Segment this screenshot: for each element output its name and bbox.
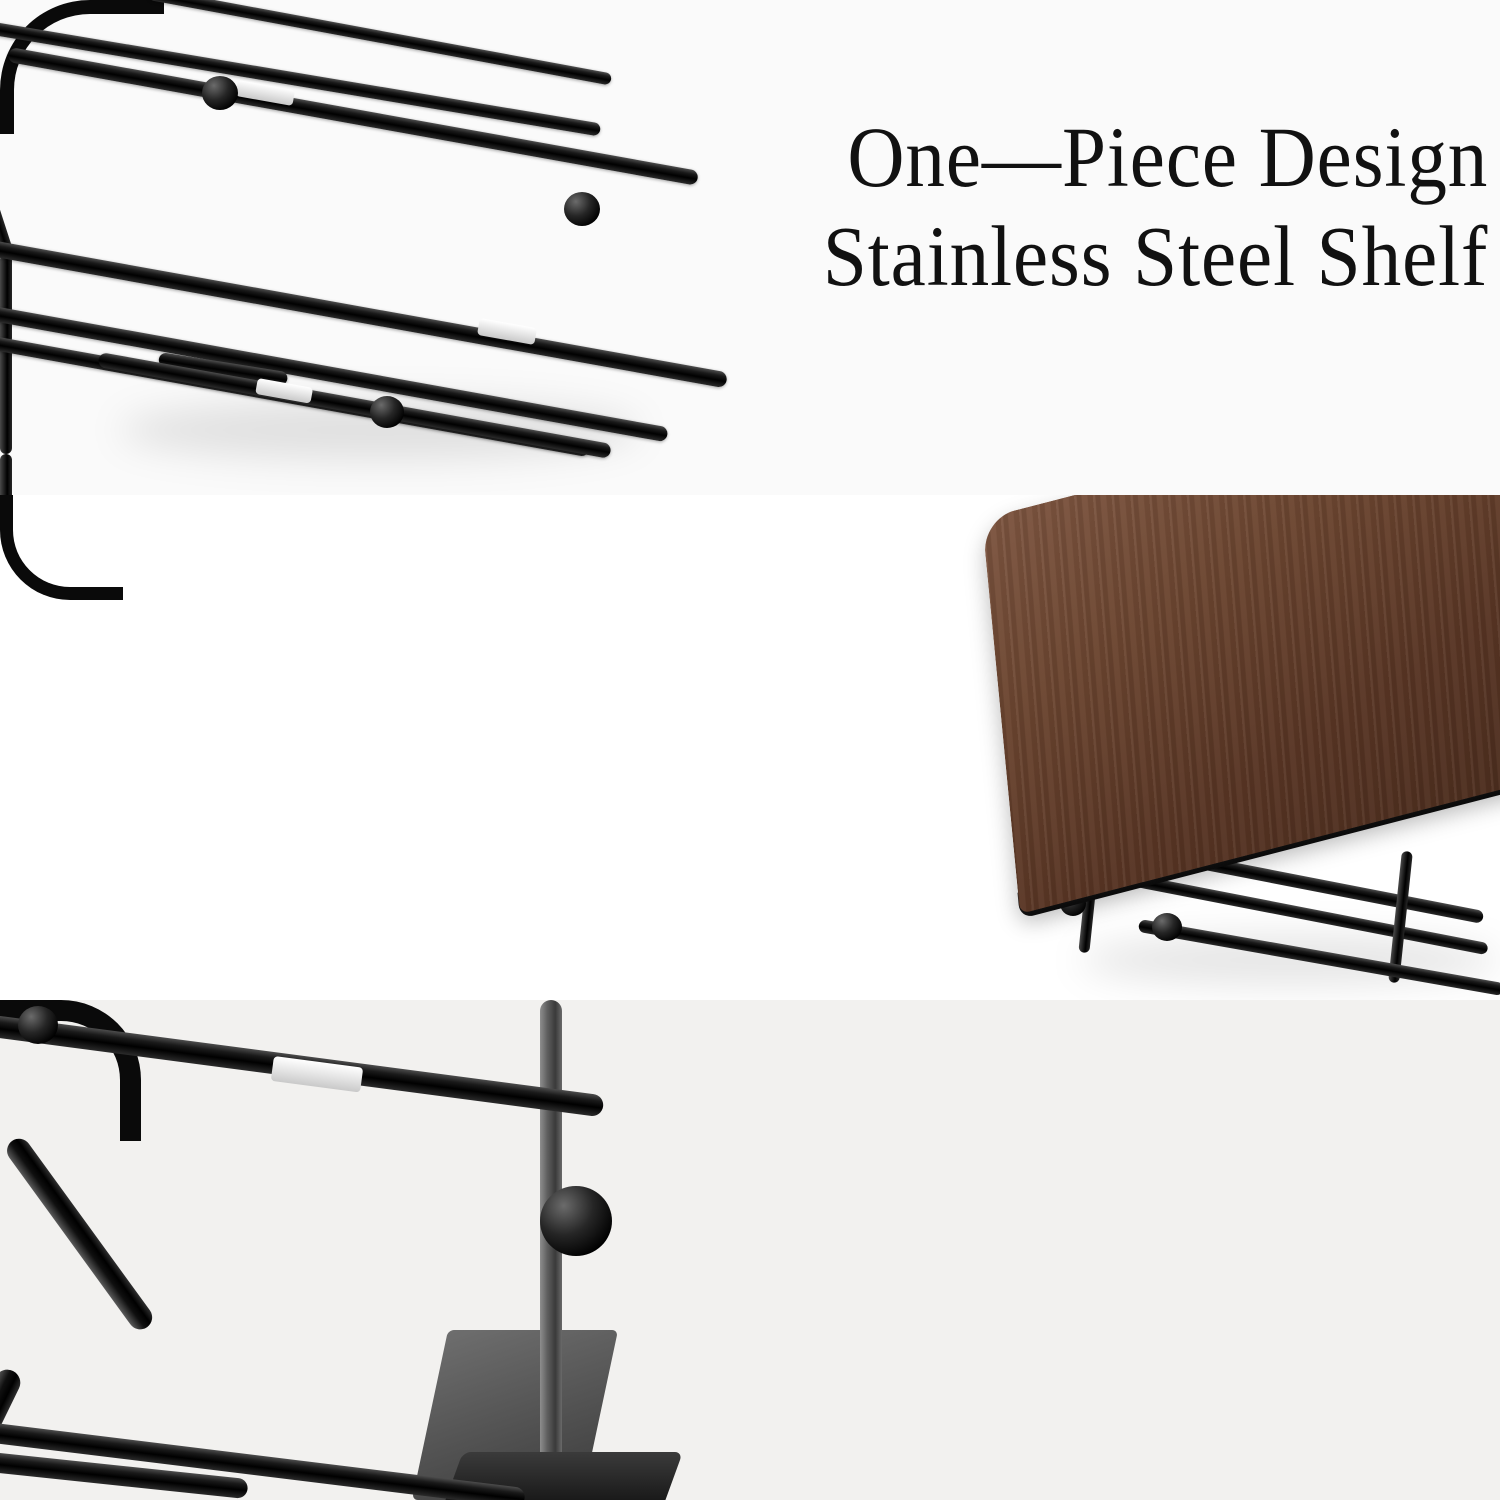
tube-highlight-band-bottom [255,378,313,404]
tray-ball-foot-b [1060,891,1086,916]
bottom-frame-corner-bend [0,1000,141,1141]
base-plate [441,1452,683,1500]
shelf-divider-post-c [0,454,12,495]
ball-foot-bottom [370,396,404,428]
tray-frame-bar-c [1138,919,1500,996]
shelf-shadow [120,400,640,460]
metal-reflective-panel [412,1330,618,1500]
panel-wooden-tray: Wooden Tray Classic Decor [0,495,1500,1000]
bottom-frame-top-rail [0,1012,605,1117]
tray-shadow [1080,935,1500,985]
tray-frame-curve [0,495,123,600]
shelf-hook-arm [0,138,14,256]
tray-frame-bar-a [1070,831,1485,924]
bottom-frame-foot-rail [0,1452,249,1499]
center-ball-joint [540,1186,612,1256]
tray-frame-bar-b [1094,867,1489,955]
panel-one-piece-design: One—Piece Design Stainless Steel Shelf [0,0,1500,495]
ball-foot-top [202,76,238,110]
tube-highlight-band-top [235,80,295,106]
ball-foot-mid [564,192,600,226]
headline-line-1: One—Piece Design [823,112,1488,203]
shelf-left-corner-bend [0,0,164,134]
ball-joint-photo [0,1000,1500,1500]
shelf-left-leg-foot [158,352,289,386]
shelf-divider-post-b [0,344,12,454]
diagonal-tube-upper-right [2,1134,157,1334]
headline-one-piece-design: One—Piece Design Stainless Steel Shelf [823,112,1488,310]
tray-wood-surface [982,495,1500,914]
panel-bottom-balls: Bottom Balls for Slip Resistance & Venti… [0,1000,1500,1500]
tray-leg-right [1388,851,1413,983]
tray-leg-left [1078,825,1102,953]
shelf-bottom-rail [97,352,611,459]
shelf-mid-rail [0,238,728,388]
shelf-lower-rail [0,300,669,442]
tube-highlight-band [271,1056,363,1093]
bottom-frame-lower-rail [0,1420,526,1500]
shelf-divider-post-a [0,254,12,344]
shelf-back-rail-upper [148,0,612,85]
vertical-metal-post [540,1000,562,1500]
infographic-sheet: One—Piece Design Stainless Steel Shelf W… [0,0,1500,1500]
wooden-tray-photo [0,495,1500,1000]
headline-line-2: Stainless Steel Shelf [823,211,1488,302]
shelf-lower-rail-2 [0,330,590,457]
ball-foot-corner [18,1006,58,1044]
shelf-top-rail [7,47,699,186]
tray-edge-band [1017,738,1500,919]
diagonal-tube-upper-left [0,1365,25,1500]
shelf-back-rail [0,18,601,136]
tube-highlight-band-mid [477,318,537,345]
tray-ball-foot-a [1152,913,1182,941]
